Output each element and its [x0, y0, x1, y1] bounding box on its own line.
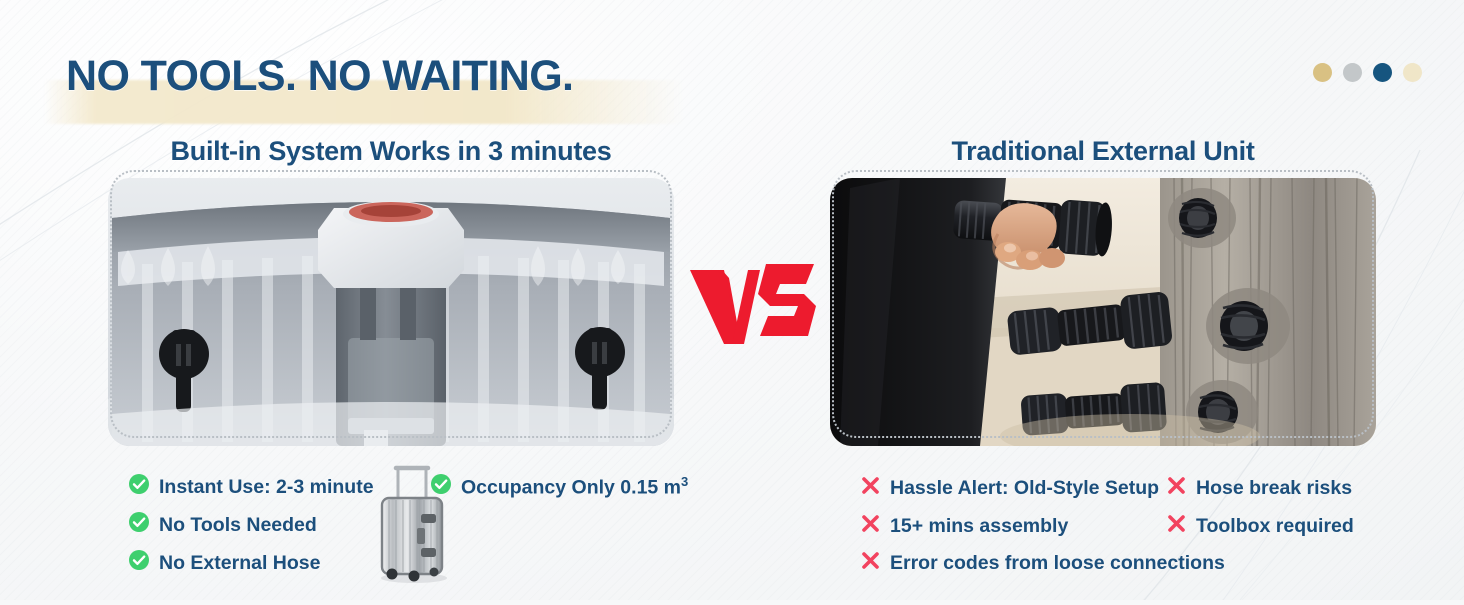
cross-icon: [860, 475, 881, 502]
feature-label-superscript: 3: [681, 474, 688, 489]
dot-gray-icon: [1343, 63, 1362, 82]
check-circle-icon: [128, 549, 150, 577]
headline-block: NO TOOLS. NO WAITING.: [66, 52, 573, 101]
right-panel-title: Traditional External Unit: [830, 136, 1376, 167]
drawback-item: Hose break risks: [1166, 475, 1352, 502]
feature-label: Instant Use: 2-3 minute: [159, 476, 374, 499]
cross-icon: [860, 550, 881, 577]
cross-icon: [1166, 513, 1187, 540]
feature-item: Instant Use: 2-3 minute: [128, 473, 374, 501]
dot-gold-icon: [1313, 63, 1332, 82]
dot-cream-icon: [1403, 63, 1422, 82]
right-comparison-panel: Traditional External Unit: [830, 136, 1376, 446]
left-product-image: [108, 178, 674, 446]
cross-icon: [860, 513, 881, 540]
suitcase-illustration: [372, 462, 452, 584]
drawback-label: Hassle Alert: Old-Style Setup: [890, 477, 1159, 500]
drawback-item: Hassle Alert: Old-Style Setup: [860, 475, 1159, 502]
feature-item: No Tools Needed: [128, 511, 317, 539]
feature-item: Occupancy Only 0.15 m3: [430, 473, 688, 501]
drawback-label: Hose break risks: [1196, 477, 1352, 500]
decorative-dots: [1313, 63, 1422, 82]
versus-badge: [688, 258, 820, 350]
feature-label: Occupancy Only 0.15 m: [461, 477, 681, 499]
drawback-label: 15+ mins assembly: [890, 515, 1068, 538]
check-circle-icon: [128, 511, 150, 539]
left-panel-title: Built-in System Works in 3 minutes: [108, 136, 674, 167]
drawback-item: Toolbox required: [1166, 513, 1354, 540]
dot-navy-icon: [1373, 63, 1392, 82]
drawback-item: Error codes from loose connections: [860, 550, 1225, 577]
drawback-label: Error codes from loose connections: [890, 552, 1225, 575]
cross-icon: [1166, 475, 1187, 502]
feature-item: No External Hose: [128, 549, 320, 577]
drawback-label: Toolbox required: [1196, 515, 1354, 538]
feature-label: No Tools Needed: [159, 514, 317, 537]
feature-label: No External Hose: [159, 552, 320, 575]
left-comparison-panel: Built-in System Works in 3 minutes: [108, 136, 674, 446]
right-product-image: [830, 178, 1376, 446]
drawback-item: 15+ mins assembly: [860, 513, 1068, 540]
page-title: NO TOOLS. NO WAITING.: [66, 52, 573, 101]
check-circle-icon: [128, 473, 150, 501]
